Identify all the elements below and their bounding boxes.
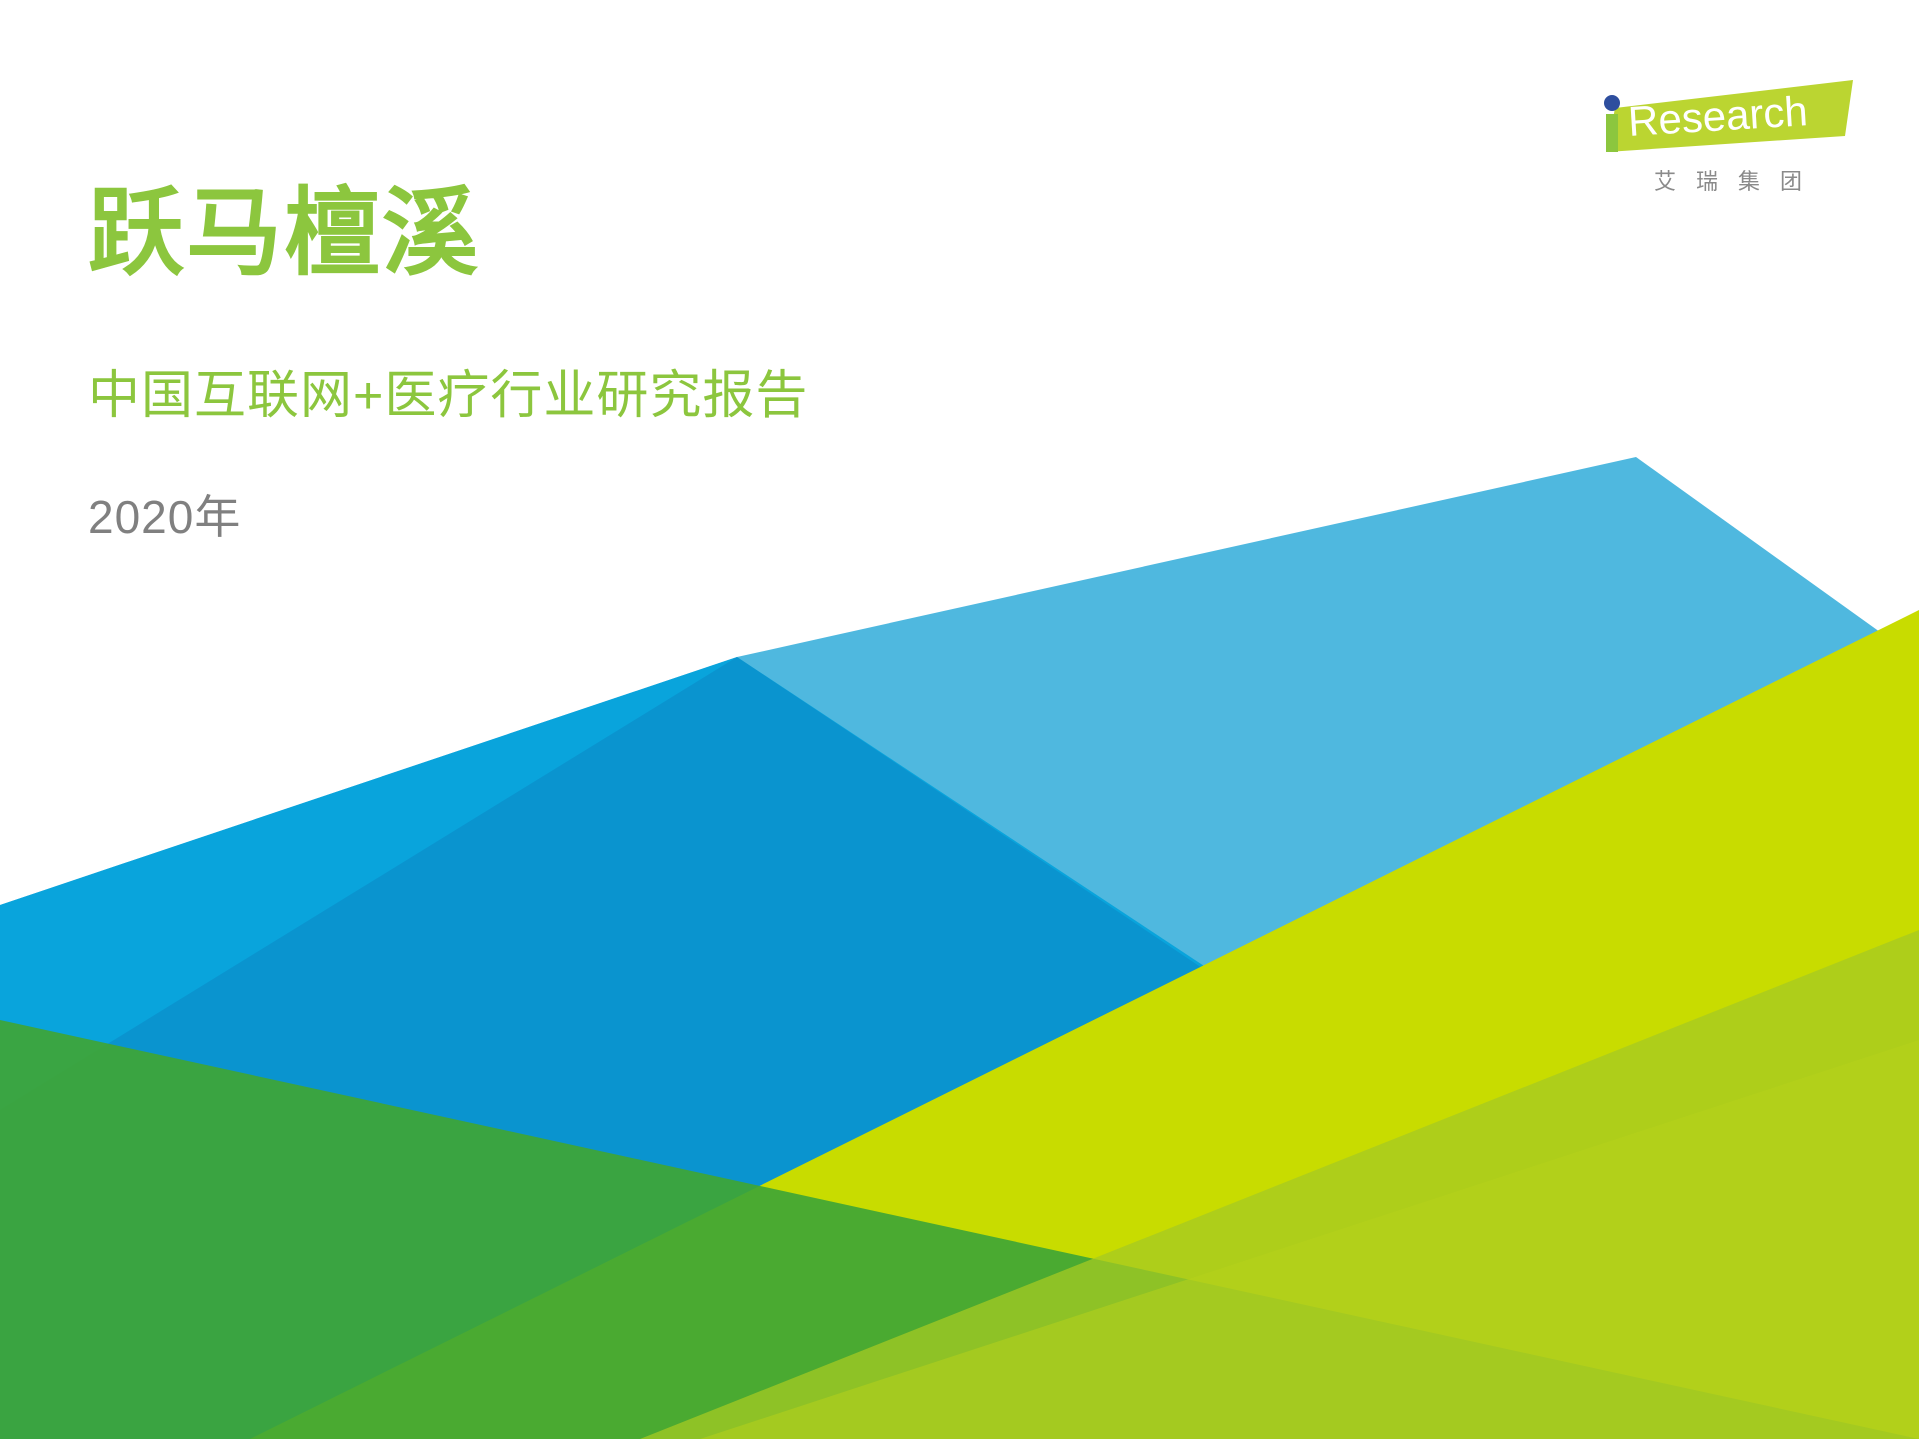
page-title: 跃马檀溪	[88, 186, 808, 282]
report-year: 2020年	[88, 494, 808, 540]
slide-canvas: 跃马檀溪 中国互联网+医疗行业研究报告 2020年 Research 艾瑞集团	[0, 0, 1919, 1439]
title-text-block: 跃马檀溪 中国互联网+医疗行业研究报告 2020年	[88, 186, 808, 540]
report-subtitle: 中国互联网+医疗行业研究报告	[88, 370, 808, 422]
iresearch-logo: Research 艾瑞集团	[1597, 78, 1857, 196]
logo-mark: Research	[1597, 78, 1857, 156]
logo-i-stem-icon	[1606, 114, 1618, 152]
logo-i-dot-icon	[1604, 95, 1620, 111]
logo-badge-icon: Research	[1597, 78, 1857, 156]
logo-company-name-cn: 艾瑞集团	[1597, 164, 1857, 196]
